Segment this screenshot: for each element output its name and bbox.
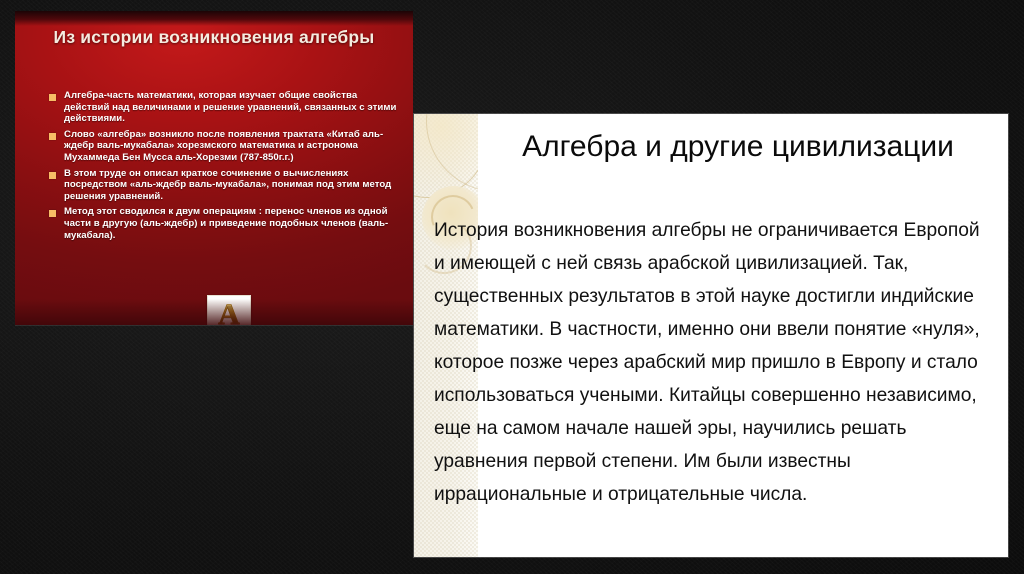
list-item-label: В этом труде он описал краткое сочинение… (64, 168, 399, 203)
list-item: Метод этот сводился к двум операциям : п… (49, 206, 399, 241)
slide-white[interactable]: Алгебра и другие цивилизации История воз… (414, 114, 1008, 557)
list-item-label: Метод этот сводился к двум операциям : п… (64, 206, 399, 241)
square-bullet-icon (49, 133, 56, 140)
slide-red[interactable]: Из истории возникновения алгебры Алгебра… (15, 11, 413, 325)
list-item-label: Алгебра-часть математики, которая изучае… (64, 90, 399, 125)
square-bullet-icon (49, 172, 56, 179)
square-bullet-icon (49, 94, 56, 101)
list-item-label: Слово «алгебра» возникло после появления… (64, 129, 399, 164)
red-slide-top-shade (15, 11, 413, 26)
square-bullet-icon (49, 210, 56, 217)
red-slide-title: Из истории возникновения алгебры (31, 26, 397, 49)
red-slide-bullet-list: Алгебра-часть математики, которая изучае… (49, 90, 399, 245)
list-item: Слово «алгебра» возникло после появления… (49, 129, 399, 164)
white-slide-body-text: История возникновения алгебры не огранич… (434, 214, 994, 511)
list-item: В этом труде он описал краткое сочинение… (49, 168, 399, 203)
white-slide-title: Алгебра и другие цивилизации (478, 126, 998, 167)
red-slide-bottom-shade (15, 299, 413, 325)
list-item: Алгебра-часть математики, которая изучае… (49, 90, 399, 125)
presentation-stage: Из истории возникновения алгебры Алгебра… (0, 0, 1024, 574)
